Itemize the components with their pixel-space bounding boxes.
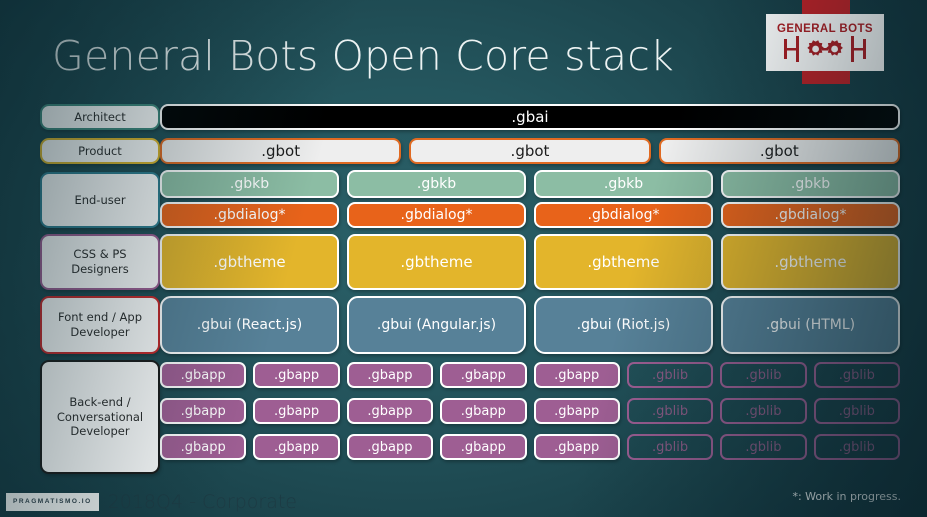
gbapp-cell: .gbapp	[440, 398, 526, 424]
gbtheme-cell: .gbtheme	[534, 234, 713, 290]
role-box-back-end: Back-end / Conversational Developer	[40, 360, 160, 474]
gbot-cell: .gbot	[659, 138, 900, 164]
gblib-cell-label: .gblib	[839, 404, 875, 419]
gbai-cell-label: .gbai	[511, 108, 548, 126]
gbapp-cell-label: .gbapp	[554, 368, 599, 383]
gbapp-cell: .gbapp	[347, 362, 433, 388]
gblib-cell-label: .gblib	[745, 368, 781, 383]
gbtheme-cell: .gbtheme	[347, 234, 526, 290]
footer-left: PRAGMATISMO.IO 2018Q4 - Corporate	[6, 491, 297, 513]
role-box-font-end-app: Font end / App Developer	[40, 296, 160, 354]
gbot-cell: .gbot	[409, 138, 650, 164]
gblib-cell: .gblib	[720, 362, 806, 388]
gbkb-cell-label: .gbkb	[230, 176, 269, 192]
gbapp-cell: .gbapp	[253, 362, 339, 388]
gbapp-cell: .gbapp	[347, 398, 433, 424]
role-label: Product	[78, 144, 122, 159]
gbot-cell-label: .gbot	[261, 142, 300, 160]
gbui-cell-label: .gbui (React.js)	[197, 317, 302, 333]
gbapp-cell: .gbapp	[160, 434, 246, 460]
role-label: Architect	[74, 110, 126, 125]
gblib-cell-label: .gblib	[652, 440, 688, 455]
gbkb-cell: .gbkb	[160, 170, 339, 198]
gbapp-cell-label: .gbapp	[274, 368, 319, 383]
gbtheme-cell-label: .gbtheme	[587, 253, 659, 271]
role-label: Back-end / Conversational Developer	[57, 395, 143, 440]
gbot-cell: .gbot	[160, 138, 401, 164]
gbkb-cell: .gbkb	[347, 170, 526, 198]
gbdialog-cell: .gbdialog*	[721, 202, 900, 228]
gbapp-cell: .gbapp	[440, 362, 526, 388]
gbkb-cell-label: .gbkb	[791, 176, 830, 192]
gbkb-cell-label: .gbkb	[417, 176, 456, 192]
gblib-cell: .gblib	[627, 362, 713, 388]
work-in-progress-note: *: Work in progress.	[792, 490, 901, 503]
role-box-end-user: End-user	[40, 172, 160, 228]
gbdialog-cell: .gbdialog*	[347, 202, 526, 228]
gbapp-cell: .gbapp	[253, 398, 339, 424]
footer-label: 2018Q4 - Corporate	[108, 491, 297, 513]
role-box-architect: Architect	[40, 104, 160, 130]
gbapp-cell-label: .gbapp	[367, 440, 412, 455]
gbapp-cell: .gbapp	[440, 434, 526, 460]
gbapp-cell: .gbapp	[347, 434, 433, 460]
stack-diagram: ArchitectProductEnd-userCSS & PS Designe…	[0, 0, 927, 517]
gbui-cell-label: .gbui (HTML)	[766, 317, 855, 333]
gbapp-cell-label: .gbapp	[461, 440, 506, 455]
role-label: Font end / App Developer	[58, 310, 142, 340]
gbapp-cell: .gbapp	[160, 398, 246, 424]
gblib-cell: .gblib	[814, 362, 900, 388]
gblib-cell: .gblib	[814, 434, 900, 460]
gblib-cell: .gblib	[720, 398, 806, 424]
gbui-cell: .gbui (HTML)	[721, 296, 900, 354]
gblib-cell-label: .gblib	[652, 404, 688, 419]
gbapp-cell: .gbapp	[160, 362, 246, 388]
gbkb-cell-label: .gbkb	[604, 176, 643, 192]
gbkb-cell: .gbkb	[721, 170, 900, 198]
pragmatismo-logo: PRAGMATISMO.IO	[6, 493, 99, 511]
gbapp-cell-label: .gbapp	[274, 440, 319, 455]
gblib-cell: .gblib	[720, 434, 806, 460]
gbtheme-cell-label: .gbtheme	[774, 253, 846, 271]
slide-canvas: General Bots Open Core stack GENERAL BOT…	[0, 0, 927, 517]
gbapp-cell-label: .gbapp	[181, 404, 226, 419]
gbui-cell: .gbui (Riot.js)	[534, 296, 713, 354]
gblib-cell-label: .gblib	[745, 440, 781, 455]
gblib-cell: .gblib	[627, 434, 713, 460]
gbapp-cell-label: .gbapp	[181, 440, 226, 455]
gbapp-cell-label: .gbapp	[554, 440, 599, 455]
gblib-cell-label: .gblib	[839, 368, 875, 383]
gblib-cell-label: .gblib	[652, 368, 688, 383]
gbui-cell: .gbui (React.js)	[160, 296, 339, 354]
gblib-cell: .gblib	[814, 398, 900, 424]
gbtheme-cell-label: .gbtheme	[213, 253, 285, 271]
gbapp-cell-label: .gbapp	[461, 404, 506, 419]
gblib-cell-label: .gblib	[839, 440, 875, 455]
gblib-cell: .gblib	[627, 398, 713, 424]
gbapp-cell: .gbapp	[534, 434, 620, 460]
gbot-cell-label: .gbot	[511, 142, 550, 160]
gblib-cell-label: .gblib	[745, 404, 781, 419]
role-label: End-user	[74, 193, 125, 208]
gbai-cell: .gbai	[160, 104, 900, 130]
role-box-css-ps: CSS & PS Designers	[40, 234, 160, 290]
gbapp-cell-label: .gbapp	[274, 404, 319, 419]
gbui-cell-label: .gbui (Angular.js)	[377, 317, 496, 333]
gbdialog-cell-label: .gbdialog*	[214, 207, 286, 223]
gbdialog-cell-label: .gbdialog*	[588, 207, 660, 223]
gbdialog-cell: .gbdialog*	[534, 202, 713, 228]
gbtheme-cell-label: .gbtheme	[400, 253, 472, 271]
gbdialog-cell: .gbdialog*	[160, 202, 339, 228]
gbtheme-cell: .gbtheme	[160, 234, 339, 290]
gbapp-cell-label: .gbapp	[367, 368, 412, 383]
gbdialog-cell-label: .gbdialog*	[775, 207, 847, 223]
gbapp-cell-label: .gbapp	[554, 404, 599, 419]
role-label: CSS & PS Designers	[71, 247, 129, 277]
gbapp-cell: .gbapp	[534, 362, 620, 388]
gbapp-cell: .gbapp	[534, 398, 620, 424]
role-box-product: Product	[40, 138, 160, 164]
gbapp-cell-label: .gbapp	[367, 404, 412, 419]
gbkb-cell: .gbkb	[534, 170, 713, 198]
gbapp-cell-label: .gbapp	[181, 368, 226, 383]
gbdialog-cell-label: .gbdialog*	[401, 207, 473, 223]
gbapp-cell: .gbapp	[253, 434, 339, 460]
gbtheme-cell: .gbtheme	[721, 234, 900, 290]
gbapp-cell-label: .gbapp	[461, 368, 506, 383]
gbui-cell-label: .gbui (Riot.js)	[577, 317, 671, 333]
gbui-cell: .gbui (Angular.js)	[347, 296, 526, 354]
gbot-cell-label: .gbot	[760, 142, 799, 160]
